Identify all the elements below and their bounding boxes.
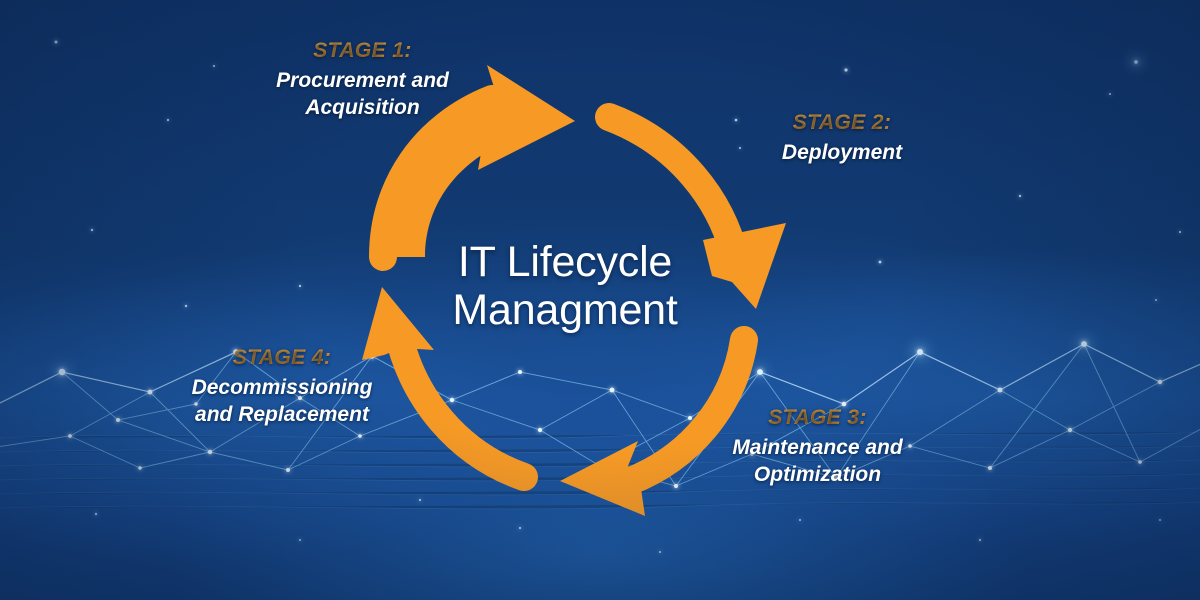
- stage-2-label: STAGE 2: Deployment: [742, 110, 942, 167]
- stage-1-name-line1: Procurement and: [255, 68, 470, 95]
- stage-4-name-line2: and Replacement: [172, 402, 392, 429]
- center-title-line2: Managment: [400, 286, 730, 334]
- stage-3-number: STAGE 3:: [705, 405, 930, 432]
- cycle-diagram-canvas: STAGE 1: Procurement and Acquisition STA…: [0, 0, 1200, 600]
- stage-1-number: STAGE 1:: [255, 38, 470, 65]
- stage-1-label: STAGE 1: Procurement and Acquisition: [255, 38, 470, 122]
- stage-3-name-line1: Maintenance and: [705, 435, 930, 462]
- stage-3-name-line2: Optimization: [705, 462, 930, 489]
- center-title: IT Lifecycle Managment: [400, 238, 730, 334]
- stage-2-number: STAGE 2:: [742, 110, 942, 137]
- stage-1-name-line2: Acquisition: [255, 95, 470, 122]
- center-title-line1: IT Lifecycle: [400, 238, 730, 286]
- stage-3-label: STAGE 3: Maintenance and Optimization: [705, 405, 930, 489]
- stage-4-label: STAGE 4: Decommissioning and Replacement: [172, 345, 392, 429]
- stage-4-name-line1: Decommissioning: [172, 375, 392, 402]
- stage-4-number: STAGE 4:: [172, 345, 392, 372]
- stage-2-name-line1: Deployment: [742, 140, 942, 167]
